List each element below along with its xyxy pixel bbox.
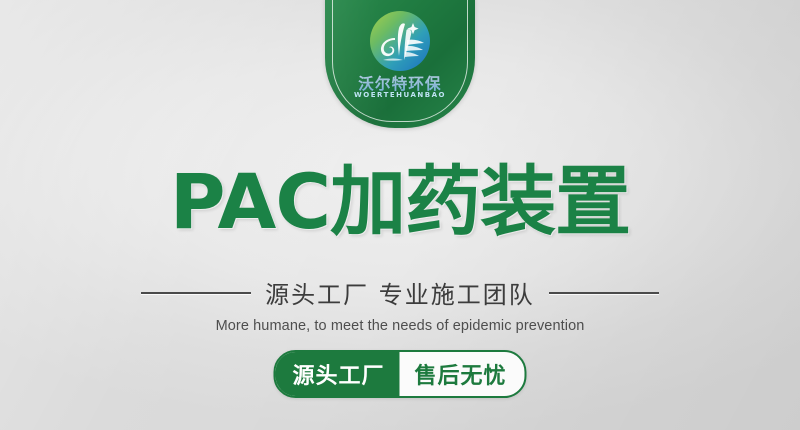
leaf-bird-circle-emblem xyxy=(369,10,431,72)
logo-company-name-en: WOERTEHUANBAO xyxy=(325,91,475,99)
english-tagline: More humane, to meet the needs of epidem… xyxy=(0,318,800,334)
badge-segment-source-factory: 源头工厂 xyxy=(275,352,399,396)
feature-badge: 源头工厂 售后无忧 xyxy=(273,350,526,398)
subtitle-row: 源头工厂 专业施工团队 xyxy=(0,275,800,310)
subtitle-text: 源头工厂 专业施工团队 xyxy=(265,275,535,310)
page-title: PAC加药装置 xyxy=(0,158,800,246)
product-promo-banner: 沃尔特环保 WOERTEHUANBAO PAC加药装置 源头工厂 专业施工团队 … xyxy=(0,0,800,430)
company-shield-logo: 沃尔特环保 WOERTEHUANBAO xyxy=(325,0,475,128)
divider-line-right xyxy=(549,292,659,294)
divider-line-left xyxy=(141,292,251,294)
badge-segment-after-sales: 售后无忧 xyxy=(400,352,525,396)
